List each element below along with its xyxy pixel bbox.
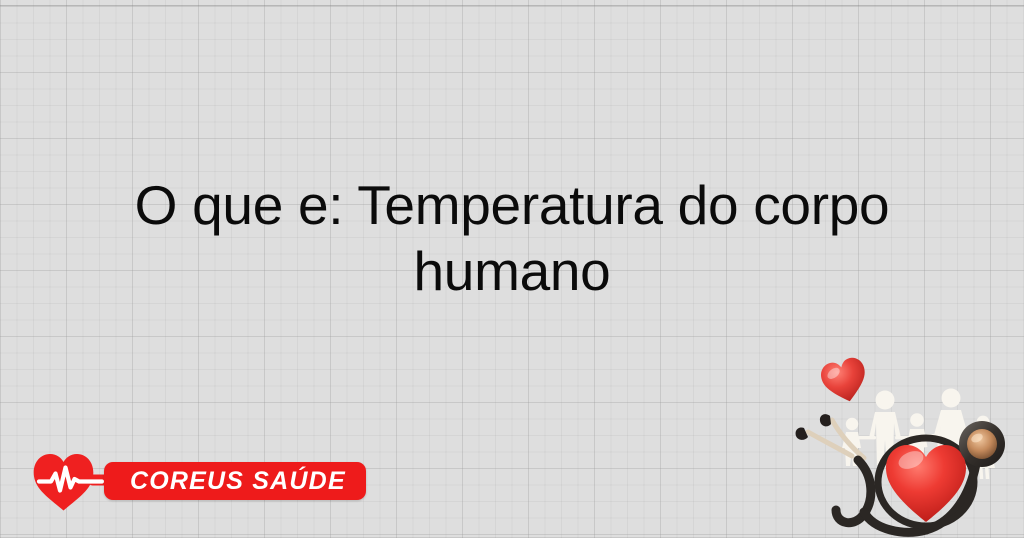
slide-canvas: O que e: Temperatura do corpo humano COR… (0, 0, 1024, 538)
page-title: O que e: Temperatura do corpo humano (60, 172, 964, 304)
small-heart-icon (818, 355, 871, 406)
health-care-illustration (778, 344, 1024, 538)
brand-name-label: COREUS SAÚDE (130, 469, 346, 494)
brand-logo: COREUS SAÚDE (30, 448, 366, 514)
stethoscope-chestpiece-icon (959, 421, 1005, 467)
page-title-line-1: O que e: Temperatura do corpo (60, 172, 964, 238)
brand-name-pill: COREUS SAÚDE (104, 462, 366, 500)
page-title-line-2: humano (60, 238, 964, 304)
